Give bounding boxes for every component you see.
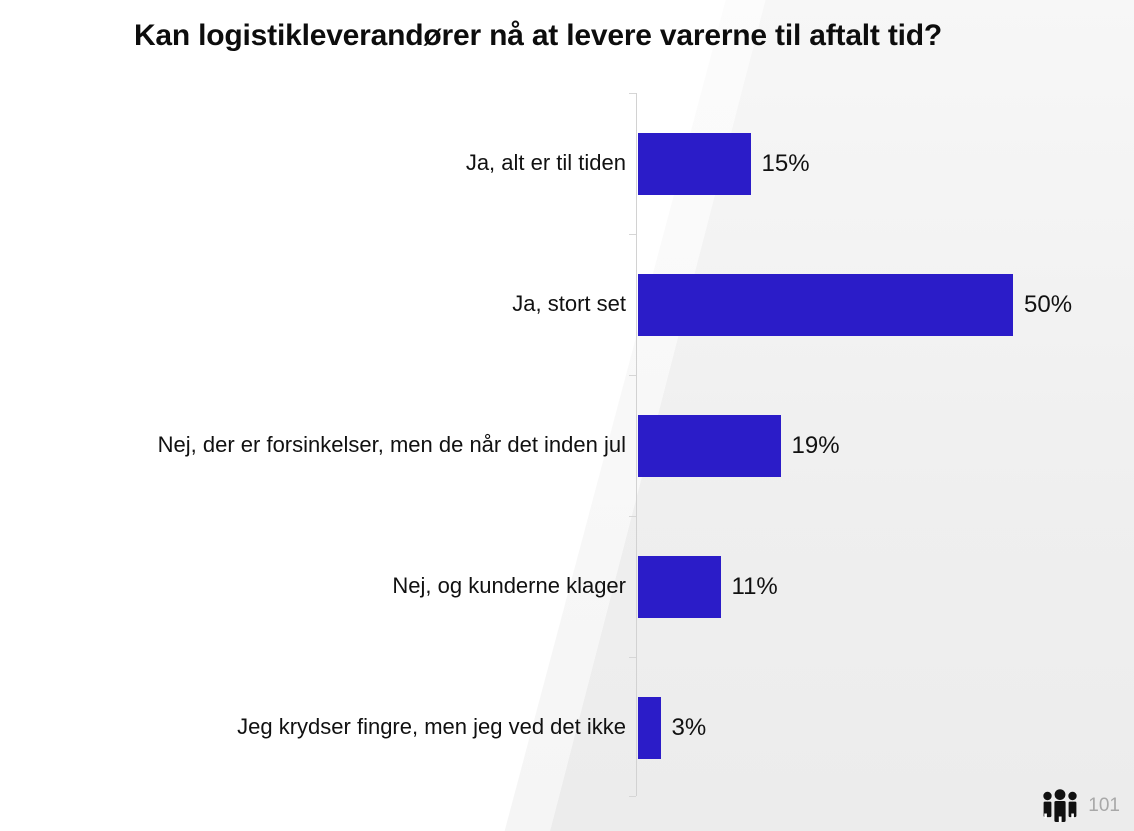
value-axis-line — [636, 93, 637, 796]
bar-row: Nej, og kunderne klager 11% — [0, 516, 1134, 657]
bar-group: 19% — [638, 415, 840, 477]
bar[interactable] — [638, 274, 1013, 336]
axis-tick — [629, 93, 636, 94]
axis-tick — [629, 234, 636, 235]
bar-value-label: 3% — [672, 714, 707, 742]
category-label: Jeg krydser fingre, men jeg ved det ikke — [16, 714, 626, 740]
people-group-icon — [1040, 789, 1080, 823]
bar-value-label: 50% — [1024, 291, 1072, 319]
respondents-count: 101 — [1088, 795, 1120, 817]
axis-tick — [629, 375, 636, 376]
bar[interactable] — [638, 133, 751, 195]
bar-row: Jeg krydser fingre, men jeg ved det ikke… — [0, 657, 1134, 798]
bar-value-label: 15% — [762, 150, 810, 178]
category-label: Nej, der er forsinkelser, men de når det… — [16, 432, 626, 458]
axis-tick — [629, 796, 636, 797]
bar[interactable] — [638, 556, 721, 618]
axis-tick — [629, 516, 636, 517]
bar-value-label: 19% — [792, 432, 840, 460]
bar-value-label: 11% — [732, 573, 778, 601]
category-label: Ja, alt er til tiden — [16, 150, 626, 176]
bar-row: Ja, alt er til tiden 15% — [0, 93, 1134, 234]
respondents-badge: 101 — [1040, 789, 1120, 823]
bar-row: Nej, der er forsinkelser, men de når det… — [0, 375, 1134, 516]
category-label: Ja, stort set — [16, 291, 626, 317]
bar-group: 15% — [638, 133, 810, 195]
axis-tick — [629, 657, 636, 658]
bar-group: 3% — [638, 697, 706, 759]
bar-row: Ja, stort set 50% — [0, 234, 1134, 375]
category-label: Nej, og kunderne klager — [16, 573, 626, 599]
bar[interactable] — [638, 697, 661, 759]
bar[interactable] — [638, 415, 781, 477]
page-title: Kan logistikleverandører nå at levere va… — [28, 16, 1048, 56]
bar-chart-plot-area: Ja, alt er til tiden 15% Ja, stort set 5… — [0, 93, 1134, 798]
bar-group: 50% — [638, 274, 1072, 336]
bar-group: 11% — [638, 556, 778, 618]
